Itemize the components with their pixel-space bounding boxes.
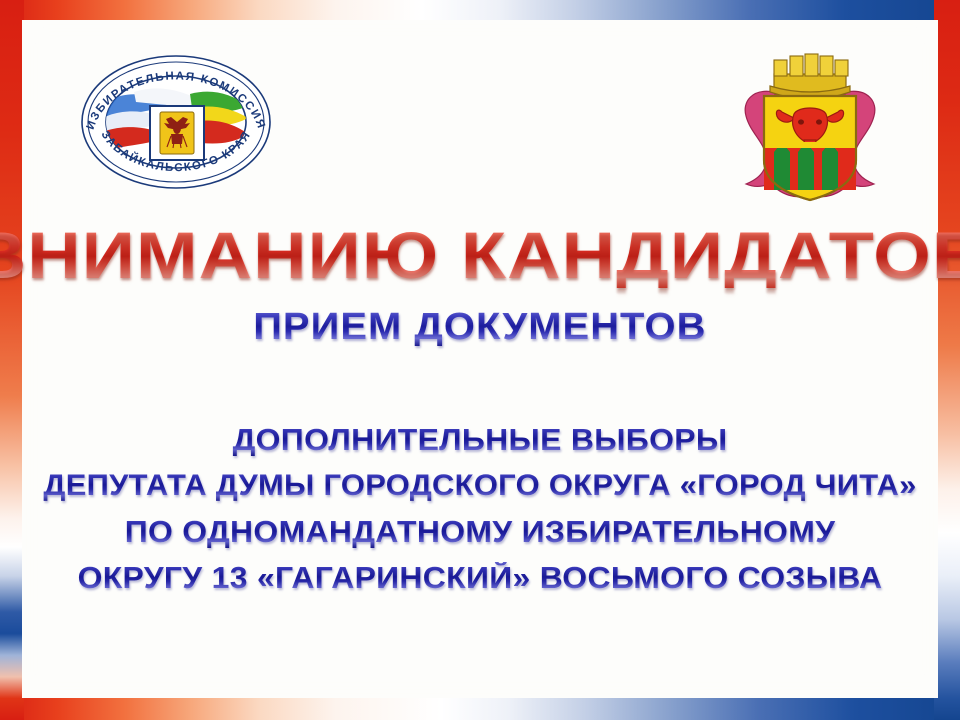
frame-border-top bbox=[0, 0, 960, 22]
page-title: ВНИМАНИЮ КАНДИДАТОВ bbox=[0, 222, 960, 288]
frame-border-left bbox=[0, 0, 24, 720]
body-line-2: ДЕПУТАТА ДУМЫ ГОРОДСКОГО ОКРУГА «ГОРОД Ч… bbox=[0, 470, 960, 502]
election-commission-logo: ИЗБИРАТЕЛЬНАЯ КОМИССИЯ ЗАБАЙКАЛЬСКОГО КР… bbox=[72, 46, 280, 196]
subtitle-text: ПРИЕМ ДОКУМЕНТОВ bbox=[253, 308, 706, 346]
body-line-3: ПО ОДНОМАНДАТНОМУ ИЗБИРАТЕЛЬНОМУ bbox=[0, 516, 960, 548]
body-line-4: ОКРУГУ 13 «ГАГАРИНСКИЙ» ВОСЬМОГО СОЗЫВА bbox=[0, 562, 960, 594]
headline-text: ВНИМАНИЮ КАНДИДАТОВ bbox=[0, 222, 960, 288]
subtitle: ПРИЕМ ДОКУМЕНТОВ bbox=[0, 308, 960, 346]
body-line-1: ДОПОЛНИТЕЛЬНЫЕ ВЫБОРЫ bbox=[0, 424, 960, 456]
poster-root: ИЗБИРАТЕЛЬНАЯ КОМИССИЯ ЗАБАЙКАЛЬСКОГО КР… bbox=[0, 0, 960, 720]
announcement-body: ДОПОЛНИТЕЛЬНЫЕ ВЫБОРЫ ДЕПУТАТА ДУМЫ ГОРО… bbox=[0, 424, 960, 594]
chita-coat-of-arms bbox=[712, 30, 908, 210]
